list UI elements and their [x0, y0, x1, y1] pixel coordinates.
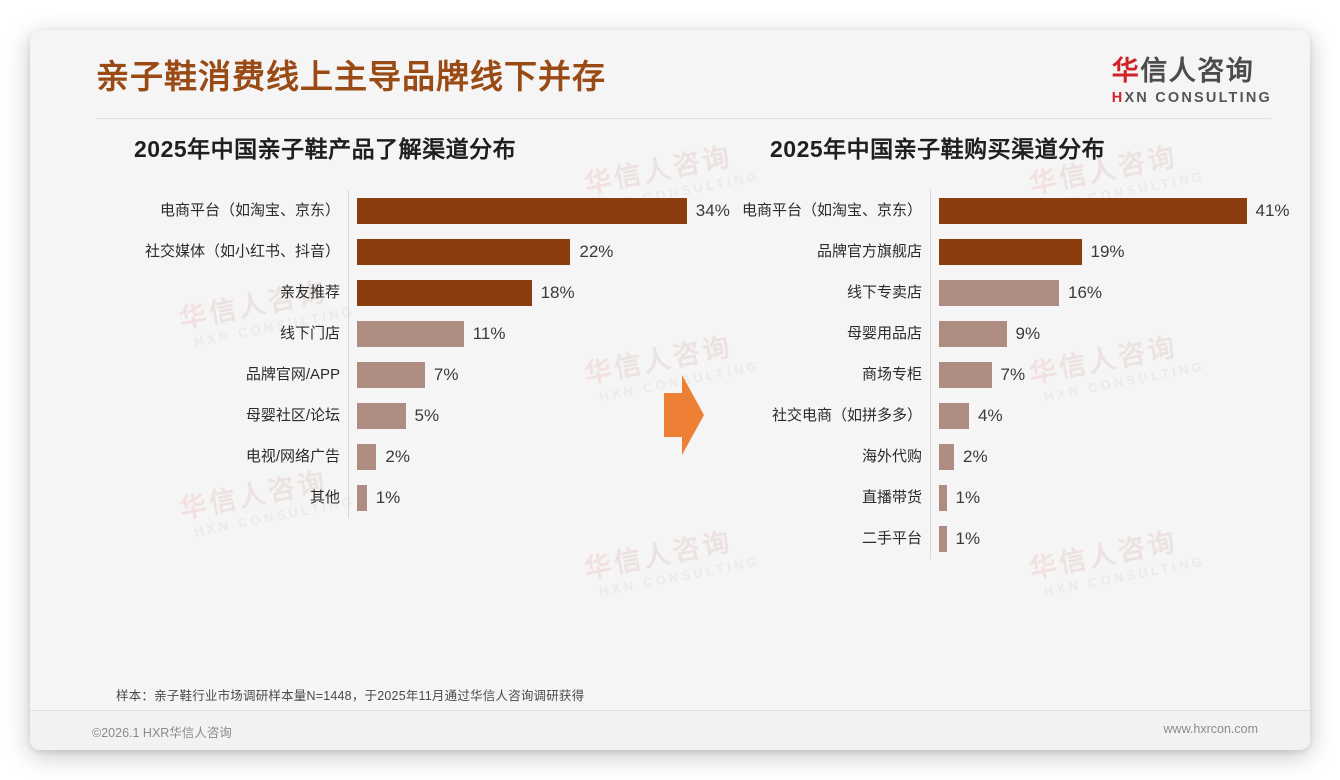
bar-fill [357, 321, 464, 347]
bar-fill [357, 485, 367, 511]
bar-row: 母婴社区/论坛5% [80, 395, 670, 436]
bar-chart-awareness: 电商平台（如淘宝、京东）34%社交媒体（如小红书、抖音）22%亲友推荐18%线下… [80, 190, 670, 518]
company-logo: 华信人咨询 HXN CONSULTING [1112, 58, 1272, 106]
bar-track: 41% [930, 198, 1290, 224]
bar-value-label: 7% [434, 366, 459, 383]
bar-row: 品牌官方旗舰店19% [690, 231, 1290, 272]
bar-value-label: 1% [956, 489, 981, 506]
bar-fill [939, 239, 1082, 265]
bar-fill [939, 362, 992, 388]
bar-category-label: 其他 [80, 490, 348, 505]
bar-track: 7% [930, 362, 1290, 388]
bar-value-label: 11% [473, 325, 506, 342]
chart-axis-line [930, 190, 931, 559]
bar-fill [357, 280, 532, 306]
bar-row: 电视/网络广告2% [80, 436, 670, 477]
logo-english: HXN CONSULTING [1112, 91, 1272, 106]
chart-title: 2025年中国亲子鞋产品了解渠道分布 [80, 130, 670, 164]
bar-fill [939, 280, 1059, 306]
bar-row: 其他1% [80, 477, 670, 518]
bar-fill [357, 198, 687, 224]
chart-title: 2025年中国亲子鞋购买渠道分布 [690, 130, 1290, 164]
bar-category-label: 二手平台 [690, 531, 930, 546]
bar-fill [939, 403, 969, 429]
bar-category-label: 母婴社区/论坛 [80, 408, 348, 423]
bar-category-label: 线下专卖店 [690, 285, 930, 300]
bar-track: 34% [348, 198, 730, 224]
bar-value-label: 22% [579, 243, 613, 260]
bar-row: 商场专柜7% [690, 354, 1290, 395]
bar-value-label: 41% [1256, 202, 1290, 219]
bar-row: 电商平台（如淘宝、京东）41% [690, 190, 1290, 231]
bar-value-label: 7% [1001, 366, 1026, 383]
bar-category-label: 电商平台（如淘宝、京东） [690, 203, 930, 218]
bar-value-label: 5% [415, 407, 440, 424]
bar-fill [939, 485, 947, 511]
bar-track: 11% [348, 321, 670, 347]
bar-value-label: 2% [385, 448, 410, 465]
bar-category-label: 母婴用品店 [690, 326, 930, 341]
bar-category-label: 线下门店 [80, 326, 348, 341]
bar-track: 18% [348, 280, 670, 306]
bar-row: 海外代购2% [690, 436, 1290, 477]
bar-category-label: 海外代购 [690, 449, 930, 464]
bar-category-label: 电视/网络广告 [80, 449, 348, 464]
bar-category-label: 直播带货 [690, 490, 930, 505]
logo-chinese: 华信人咨询 [1112, 58, 1272, 85]
bar-track: 2% [930, 444, 1290, 470]
bar-track: 1% [930, 526, 1290, 552]
bar-value-label: 18% [541, 284, 575, 301]
bar-fill [357, 403, 406, 429]
bar-fill [357, 239, 570, 265]
bar-category-label: 电商平台（如淘宝、京东） [80, 203, 348, 218]
bar-value-label: 9% [1016, 325, 1041, 342]
bar-row: 母婴用品店9% [690, 313, 1290, 354]
bar-value-label: 16% [1068, 284, 1102, 301]
bar-fill [357, 444, 376, 470]
bar-row: 电商平台（如淘宝、京东）34% [80, 190, 670, 231]
bar-row: 线下专卖店16% [690, 272, 1290, 313]
bar-row: 社交媒体（如小红书、抖音）22% [80, 231, 670, 272]
slide-header: 亲子鞋消费线上主导品牌线下并存 华信人咨询 HXN CONSULTING [30, 30, 1310, 118]
bar-track: 16% [930, 280, 1290, 306]
website-url: www.hxrcon.com [1164, 722, 1258, 736]
source-note: 样本：亲子鞋行业市场调研样本量N=1448，于2025年11月通过华信人咨询调研… [116, 685, 584, 704]
bar-chart-purchase: 电商平台（如淘宝、京东）41%品牌官方旗舰店19%线下专卖店16%母婴用品店9%… [690, 190, 1290, 559]
chart-axis-line [348, 190, 349, 518]
bar-row: 二手平台1% [690, 518, 1290, 559]
right-arrow-icon [664, 375, 704, 455]
page-title: 亲子鞋消费线上主导品牌线下并存 [96, 57, 606, 97]
chart-panel-purchase: 2025年中国亲子鞋购买渠道分布 电商平台（如淘宝、京东）41%品牌官方旗舰店1… [690, 130, 1290, 559]
bar-category-label: 社交电商（如拼多多） [690, 408, 930, 423]
slide-footer: ©2026.1 HXR华信人咨询 www.hxrcon.com [30, 711, 1310, 750]
bar-category-label: 品牌官网/APP [80, 367, 348, 382]
bar-track: 2% [348, 444, 670, 470]
bar-track: 1% [348, 485, 670, 511]
chart-panel-awareness: 2025年中国亲子鞋产品了解渠道分布 电商平台（如淘宝、京东）34%社交媒体（如… [80, 130, 670, 518]
bar-fill [939, 526, 947, 552]
bar-category-label: 社交媒体（如小红书、抖音） [80, 244, 348, 259]
bar-track: 1% [930, 485, 1290, 511]
bar-fill [357, 362, 425, 388]
bar-value-label: 19% [1091, 243, 1125, 260]
header-divider [96, 118, 1271, 119]
copyright-text: ©2026.1 HXR华信人咨询 [92, 722, 232, 741]
bar-track: 19% [930, 239, 1290, 265]
bar-track: 4% [930, 403, 1290, 429]
bar-row: 线下门店11% [80, 313, 670, 354]
bar-category-label: 亲友推荐 [80, 285, 348, 300]
bar-row: 亲友推荐18% [80, 272, 670, 313]
bar-category-label: 商场专柜 [690, 367, 930, 382]
bar-value-label: 1% [376, 489, 401, 506]
bar-track: 7% [348, 362, 670, 388]
bar-category-label: 品牌官方旗舰店 [690, 244, 930, 259]
bar-fill [939, 198, 1247, 224]
bar-track: 22% [348, 239, 670, 265]
bar-row: 社交电商（如拼多多）4% [690, 395, 1290, 436]
bar-fill [939, 321, 1007, 347]
bar-value-label: 4% [978, 407, 1003, 424]
bar-value-label: 2% [963, 448, 988, 465]
slide-card: 华信人咨询 HXN CONSULTING 华信人咨询 HXN CONSULTIN… [30, 30, 1310, 750]
bar-row: 品牌官网/APP7% [80, 354, 670, 395]
bar-row: 直播带货1% [690, 477, 1290, 518]
bar-track: 5% [348, 403, 670, 429]
bar-value-label: 1% [956, 530, 981, 547]
bar-track: 9% [930, 321, 1290, 347]
bar-fill [939, 444, 954, 470]
